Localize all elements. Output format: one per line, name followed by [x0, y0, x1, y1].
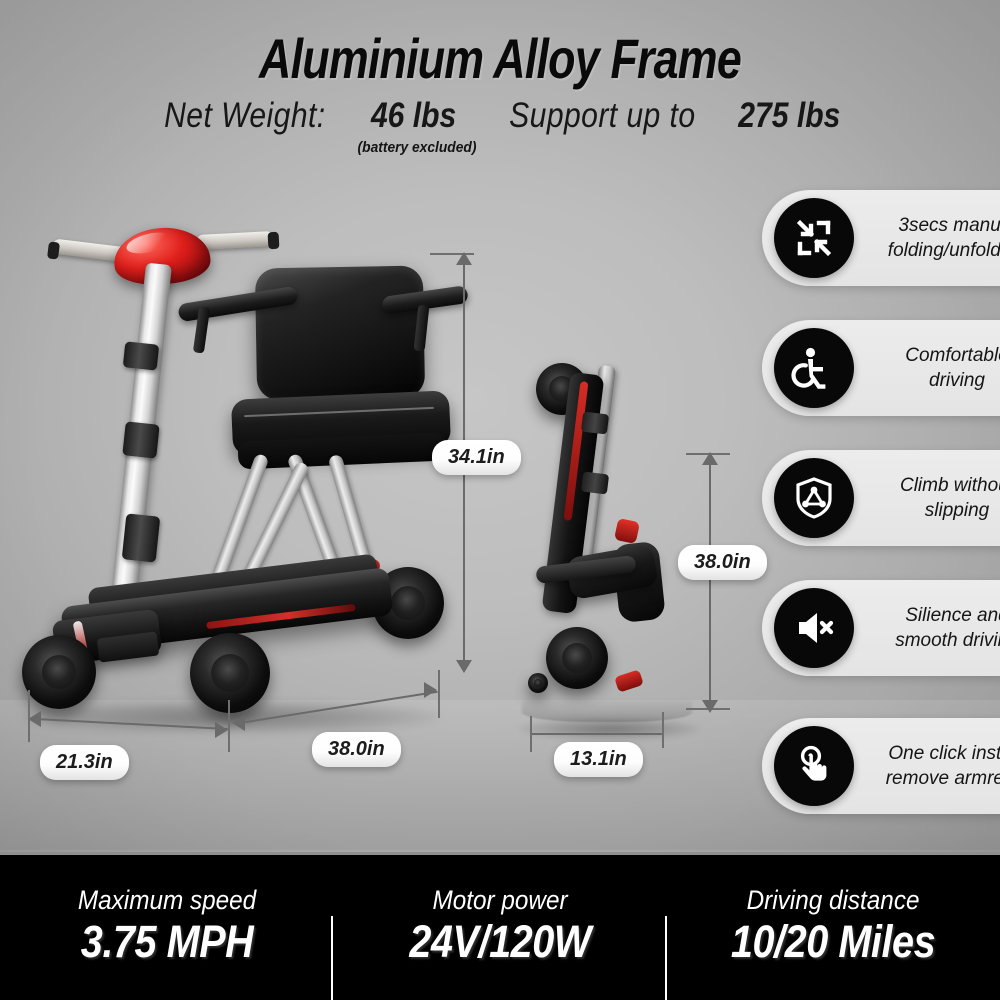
wheel-hub	[391, 586, 425, 620]
dim-arrow-left-length-open	[232, 715, 245, 731]
dim-label-length-open: 38.0in	[312, 732, 401, 767]
open-scooter-image	[10, 215, 450, 725]
dim-label-height-folded: 38.0in	[678, 545, 767, 580]
page-title: Aluminium Alloy Frame	[100, 28, 900, 90]
dim-line-width-folded	[532, 733, 662, 735]
folded-scooter-image	[520, 355, 690, 725]
folded-caster-wheel	[528, 673, 548, 693]
dim-label-width-folded: 13.1in	[554, 742, 643, 777]
seat-backrest	[255, 266, 425, 401]
column-clamp-upper	[123, 341, 160, 370]
net-weight-value: 46 lbs	[371, 96, 456, 136]
folded-foot-latch	[614, 669, 644, 692]
folded-release-latch	[614, 518, 640, 544]
spec-value-motor-power: 24V/120W	[409, 916, 590, 968]
wheel-hub	[211, 654, 249, 692]
folded-wheel-bottom	[546, 627, 608, 689]
folded-clamp-lower	[581, 471, 609, 494]
fold-arrows-icon	[774, 198, 854, 278]
feature-label-climb: Climb withoutslipping	[868, 473, 1000, 523]
dim-line-height-folded	[709, 458, 711, 708]
spec-label-driving-distance: Driving distance	[747, 884, 920, 916]
spec-motor-power: Motor power 24V/120W	[333, 884, 666, 968]
spec-bar: Maximum speed 3.75 MPH Motor power 24V/1…	[0, 852, 1000, 1000]
wheel-hub	[534, 679, 542, 687]
weight-summary: Net Weight: 46 lbs Support up to 275 lbs	[0, 96, 1000, 136]
feature-item-climb[interactable]: Climb withoutslipping	[762, 450, 1000, 546]
wheel-hub	[562, 643, 592, 673]
column-clamp-middle	[122, 421, 159, 458]
dim-arrow-left-width-open	[28, 711, 41, 727]
dim-arrow-up-height-open	[456, 252, 472, 265]
feature-item-armrests[interactable]: One click install/remove armrests	[762, 718, 1000, 814]
feature-item-silence[interactable]: Silience andsmooth driving	[762, 580, 1000, 676]
dim-arrow-right-width-open	[215, 722, 228, 738]
dim-arrow-right-length-open	[424, 682, 437, 698]
spec-bar-top-edge	[0, 852, 1000, 855]
spec-label-motor-power: Motor power	[432, 884, 567, 916]
support-value: 275 lbs	[738, 96, 840, 136]
speaker-mute-icon	[774, 588, 854, 668]
handlebar-right	[196, 231, 275, 250]
wheel-front-left	[22, 635, 96, 709]
spec-value-driving-distance: 10/20 Miles	[731, 916, 935, 968]
dim-label-height-open: 34.1in	[432, 440, 521, 475]
battery-note: (battery excluded)	[330, 139, 505, 156]
product-infographic: Aluminium Alloy Frame Net Weight: 46 lbs…	[0, 0, 1000, 1000]
grip-cap-left	[47, 241, 60, 259]
ext-line-folded-width-right	[662, 712, 664, 748]
wheel-rear-left	[190, 633, 270, 713]
tap-hand-icon	[774, 726, 854, 806]
feature-label-folding: 3secs manualfolding/unfolding	[868, 213, 1000, 263]
wheel-hub	[42, 655, 76, 689]
spec-max-speed: Maximum speed 3.75 MPH	[0, 884, 333, 968]
feature-item-folding[interactable]: 3secs manualfolding/unfolding	[762, 190, 1000, 286]
folded-clamp-upper	[581, 411, 609, 434]
support-label: Support up to	[509, 96, 695, 136]
feature-label-comfort: Comfortabledriving	[868, 343, 1000, 393]
spec-value-max-speed: 3.75 MPH	[80, 916, 253, 968]
dim-arrow-up-height-folded	[702, 452, 718, 465]
feature-label-armrests: One click install/remove armrests	[868, 741, 1000, 791]
dim-arrow-down-height-open	[456, 660, 472, 673]
spec-driving-distance: Driving distance 10/20 Miles	[667, 884, 1000, 968]
column-clamp-lower	[122, 513, 161, 562]
grip-cap-right	[268, 232, 280, 250]
shield-grip-icon	[774, 458, 854, 538]
ext-line-length-right	[438, 670, 440, 718]
ext-line-width-right	[228, 700, 230, 752]
wheelchair-icon	[774, 328, 854, 408]
net-weight-label: Net Weight:	[165, 96, 326, 136]
feature-label-silence: Silience andsmooth driving	[868, 603, 1000, 653]
dim-arrow-down-height-folded	[702, 700, 718, 713]
feature-item-comfort[interactable]: Comfortabledriving	[762, 320, 1000, 416]
dim-label-width-open: 21.3in	[40, 745, 129, 780]
spec-label-max-speed: Maximum speed	[78, 884, 256, 916]
